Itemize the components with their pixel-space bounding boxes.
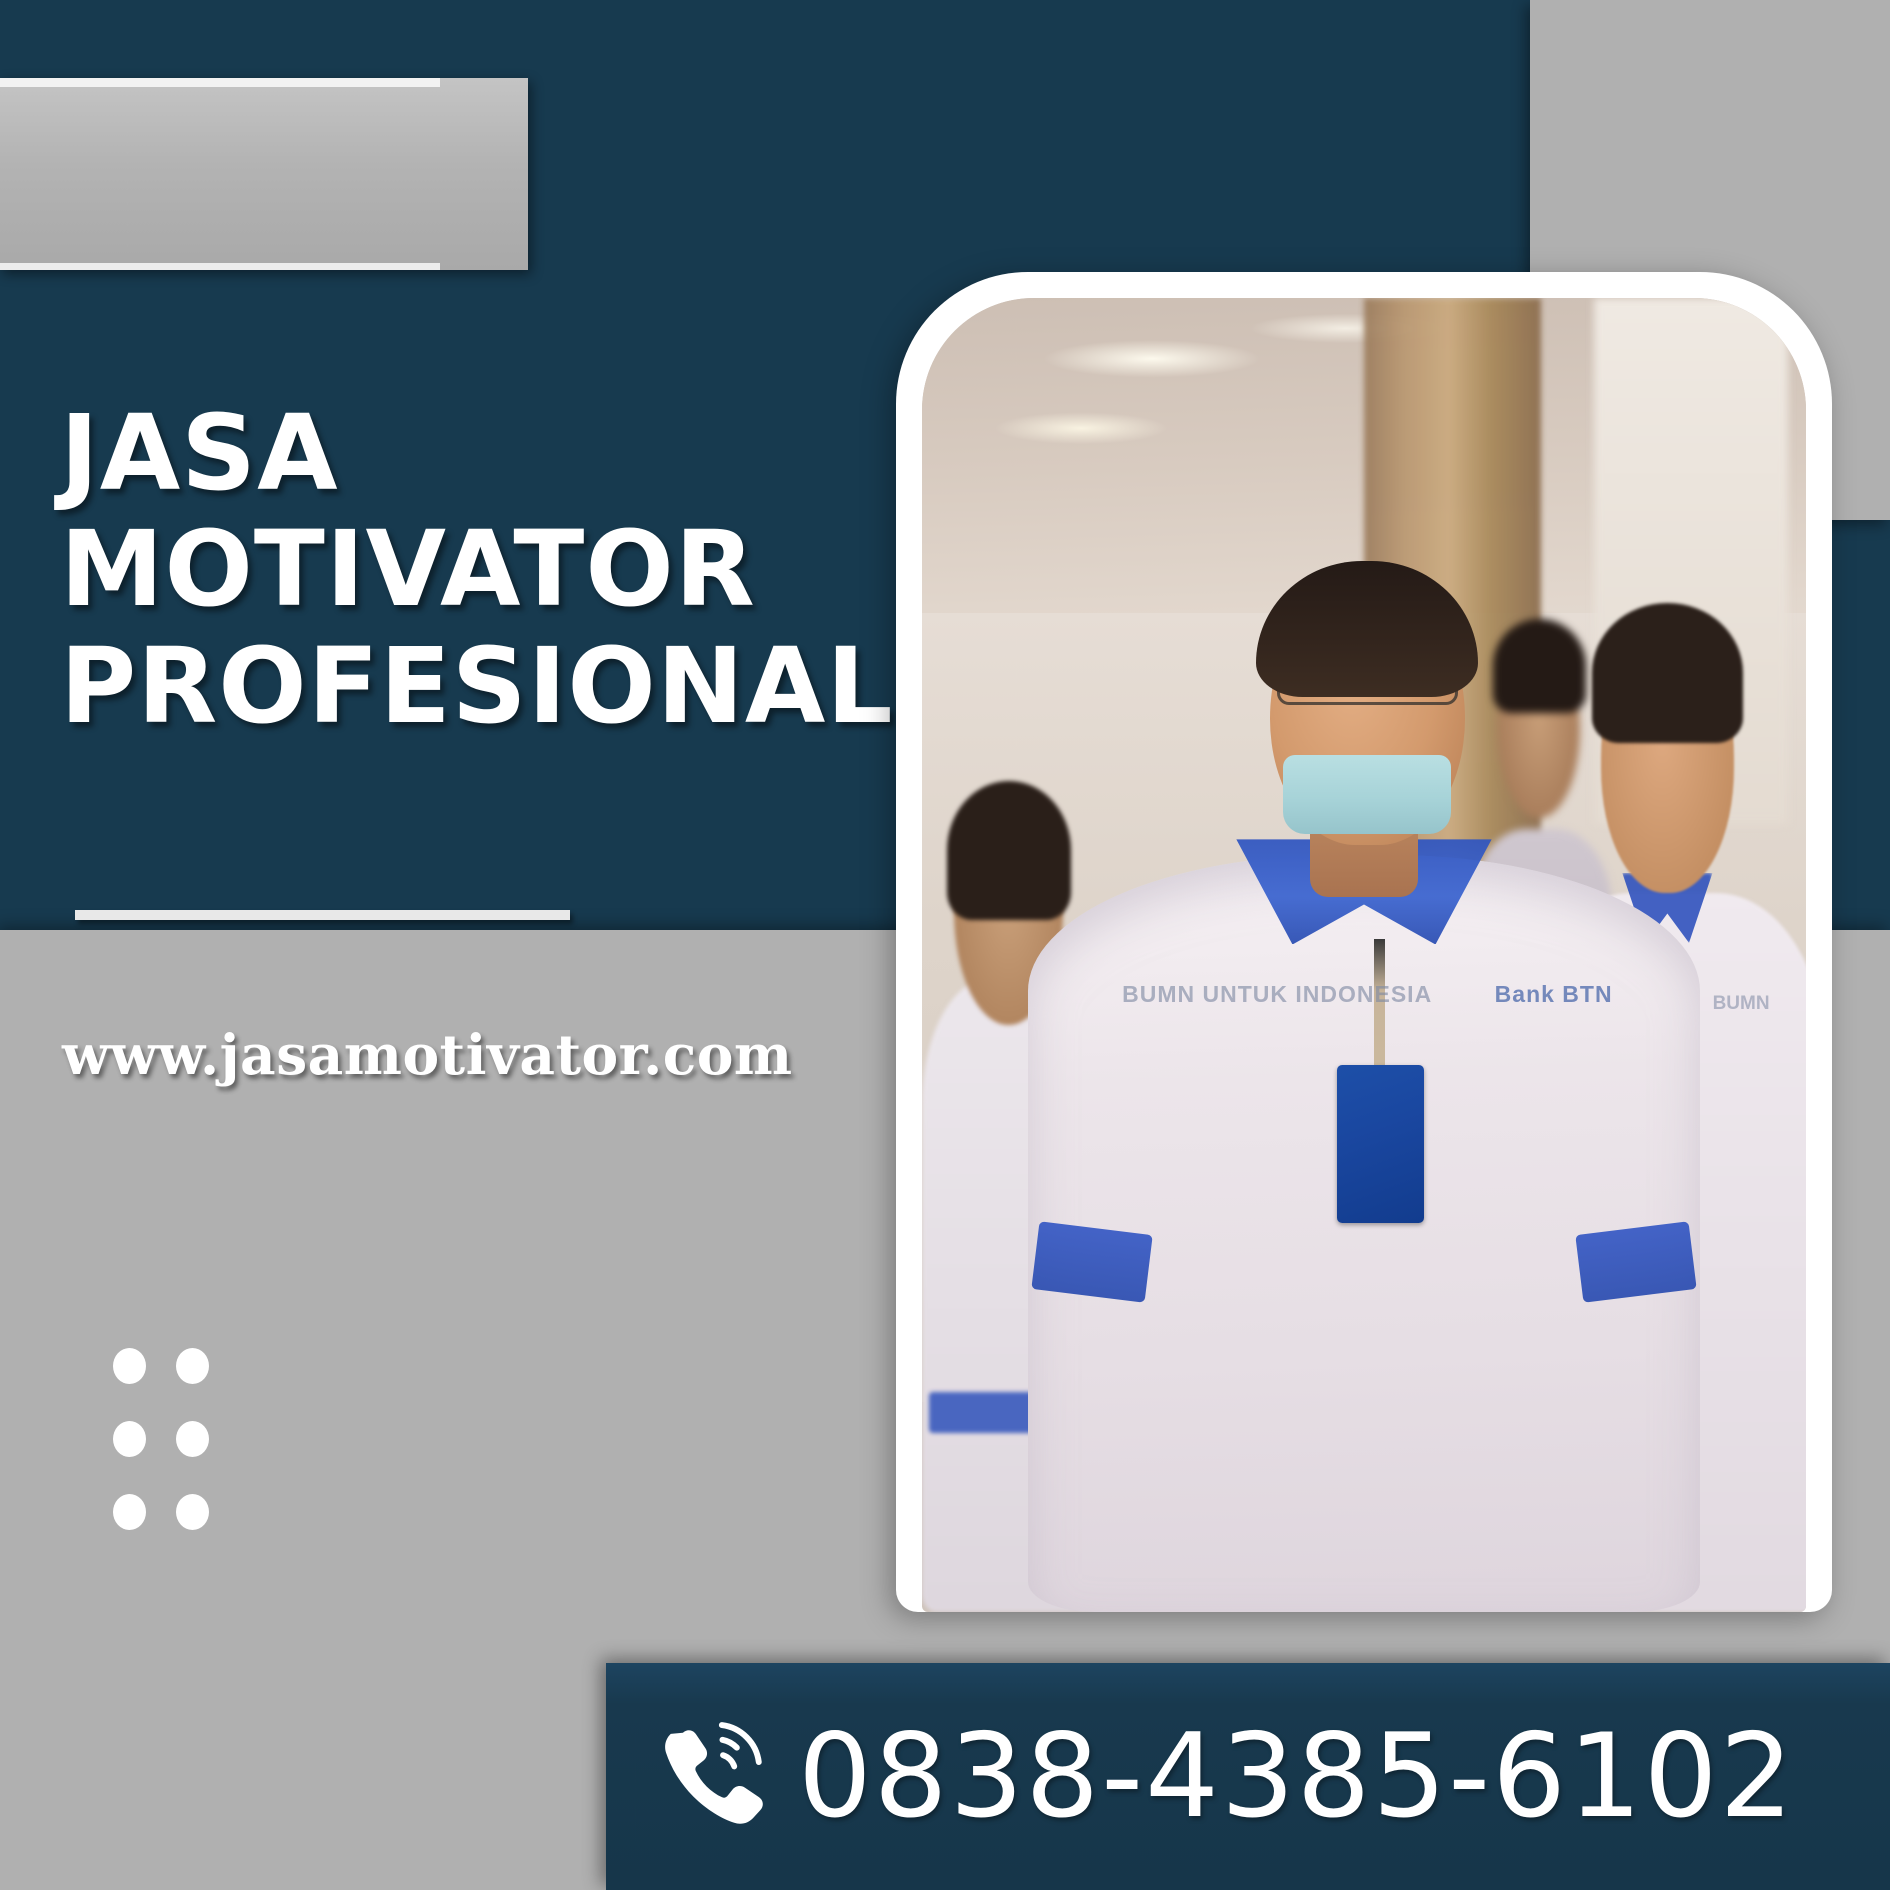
contact-bar[interactable]: 0838-4385-6102	[606, 1663, 1890, 1890]
phone-ringing-icon	[654, 1718, 772, 1836]
subject-hair	[1256, 561, 1478, 698]
headline-line-1: JASA	[60, 395, 820, 511]
poster-canvas: JASA MOTIVATOR PROFESIONAL www.jasamotiv…	[0, 0, 1890, 1890]
dot	[176, 1494, 209, 1530]
dot	[113, 1421, 146, 1457]
photo-image: BUMN BUMN UNTUK INDONESIA Bank BTN	[922, 298, 1806, 1612]
subject-shirt-logo-bumn: BUMN UNTUK INDONESIA	[1122, 981, 1432, 1008]
dot	[176, 1348, 209, 1384]
main-subject: BUMN UNTUK INDONESIA Bank BTN	[1028, 561, 1700, 1612]
phone-number[interactable]: 0838-4385-6102	[798, 1719, 1795, 1835]
headline-line-3: PROFESIONAL	[60, 628, 820, 744]
subject-sleeve-cuff-left	[1031, 1222, 1153, 1304]
subject-shirt-logo-btn: Bank BTN	[1495, 981, 1613, 1008]
colleague-right-shirt-logo: BUMN	[1713, 993, 1770, 1015]
headline-line-2: MOTIVATOR	[60, 511, 820, 627]
face-mask-icon	[1283, 755, 1451, 834]
page-title: JASA MOTIVATOR PROFESIONAL	[60, 395, 820, 744]
decorative-dot-grid	[113, 1348, 209, 1527]
title-divider	[75, 910, 570, 920]
arrow-banner	[0, 78, 528, 270]
photo-card: BUMN BUMN UNTUK INDONESIA Bank BTN	[896, 272, 1832, 1612]
dot	[113, 1348, 146, 1384]
dot	[113, 1494, 146, 1530]
dot	[176, 1421, 209, 1457]
subject-id-badge	[1337, 1065, 1424, 1223]
website-url[interactable]: www.jasamotivator.com	[62, 1022, 793, 1087]
